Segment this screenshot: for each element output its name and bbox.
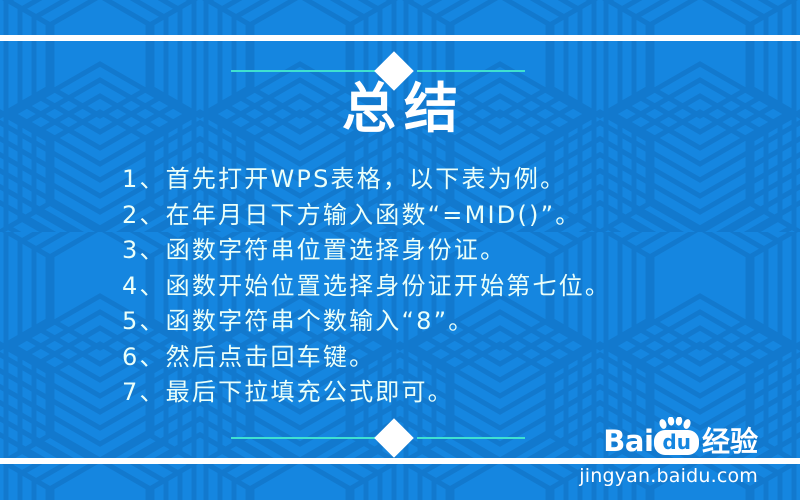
list-item-text: 首先打开WPS表格，以下表为例。 <box>166 165 567 193</box>
ornament-line-right <box>417 70 525 72</box>
ornament-line-left <box>231 437 383 439</box>
baidu-logo-du-wrap: du <box>654 430 699 455</box>
list-item-text: 函数字符串位置选择身份证。 <box>166 236 507 264</box>
baidu-logo: Bai du 经验 <box>568 424 758 456</box>
slide-canvas: 总结 1、首先打开WPS表格，以下表为例。 2、在年月日下方输入函数“=MID(… <box>0 0 800 500</box>
ornament-line-right <box>417 437 525 439</box>
paw-print-icon <box>658 417 692 433</box>
list-item: 2、在年月日下方输入函数“=MID()”。 <box>122 198 722 234</box>
list-item-number: 6、 <box>122 343 166 371</box>
list-item: 3、函数字符串位置选择身份证。 <box>122 233 722 269</box>
baidu-logo-jingyan-cn: 经验 <box>702 428 758 456</box>
list-item-text: 函数开始位置选择身份证开始第七位。 <box>166 272 611 300</box>
list-item-text: 函数字符串个数输入“8”。 <box>166 307 475 335</box>
baidu-logo-bai: Bai <box>603 427 653 456</box>
ornament-line-left <box>231 70 383 72</box>
baidu-logo-du: du <box>654 430 699 455</box>
summary-step-list: 1、首先打开WPS表格，以下表为例。 2、在年月日下方输入函数“=MID()”。… <box>122 162 722 411</box>
list-item-number: 4、 <box>122 272 166 300</box>
list-item: 4、函数开始位置选择身份证开始第七位。 <box>122 269 722 305</box>
list-item-text: 最后下拉填充公式即可。 <box>166 378 454 406</box>
baidu-jingyan-watermark: Bai du 经验 jingyan.baidu.com <box>568 424 758 486</box>
list-item: 7、最后下拉填充公式即可。 <box>122 375 722 411</box>
list-item-number: 2、 <box>122 201 166 229</box>
page-title: 总结 <box>0 78 800 140</box>
list-item-number: 5、 <box>122 307 166 335</box>
list-item-text: 在年月日下方输入函数“=MID()”。 <box>166 201 582 229</box>
top-rule <box>0 35 800 41</box>
list-item-text: 然后点击回车键。 <box>166 343 376 371</box>
watermark-url: jingyan.baidu.com <box>568 465 758 487</box>
list-item: 1、首先打开WPS表格，以下表为例。 <box>122 162 722 198</box>
list-item-number: 1、 <box>122 165 166 193</box>
list-item-number: 7、 <box>122 378 166 406</box>
list-item-number: 3、 <box>122 236 166 264</box>
diamond-icon <box>374 418 414 458</box>
list-item: 6、然后点击回车键。 <box>122 340 722 376</box>
list-item: 5、函数字符串个数输入“8”。 <box>122 304 722 340</box>
